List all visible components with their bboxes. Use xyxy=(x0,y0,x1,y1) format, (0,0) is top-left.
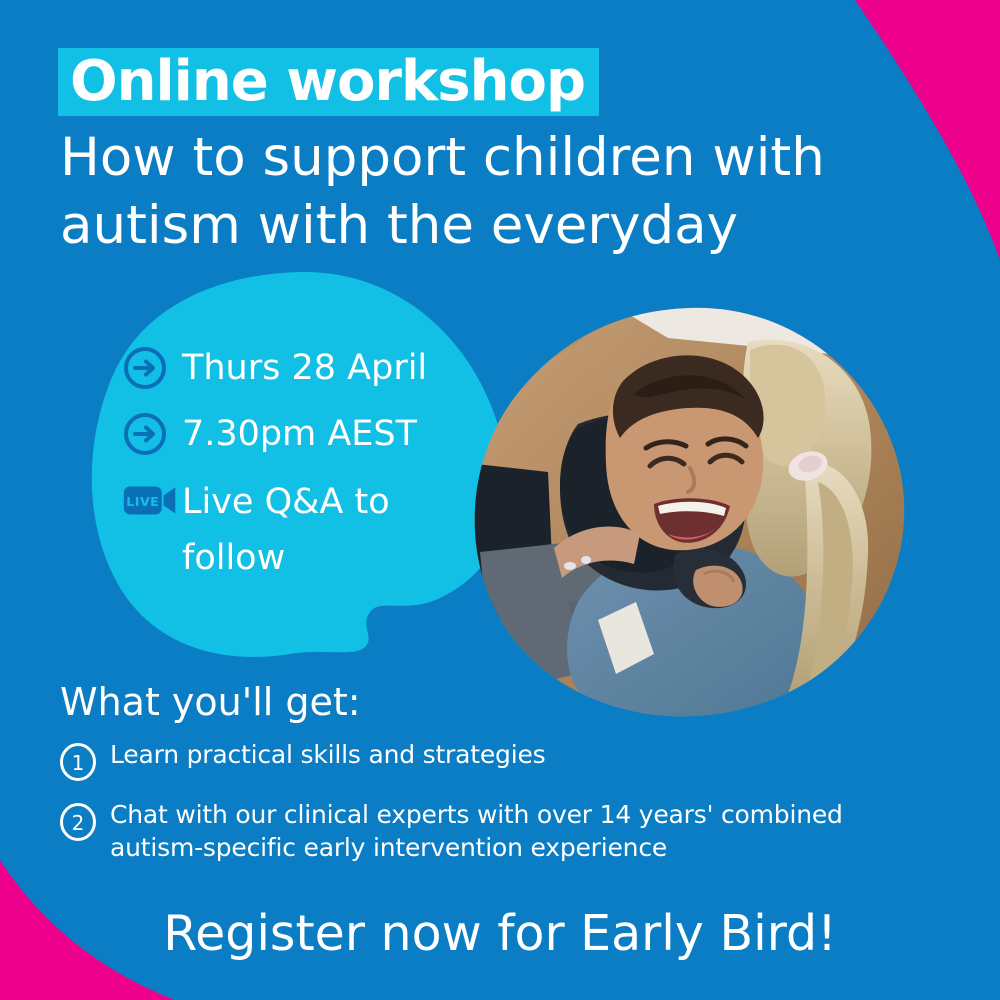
svg-text:2: 2 xyxy=(72,811,85,835)
detail-row-live-qa: LIVE Live Q&A to follow xyxy=(122,474,482,586)
number-circle-1-icon: 1 xyxy=(58,738,110,782)
headline-line-2: autism with the everyday xyxy=(60,192,940,260)
benefit-text-2: Chat with our clinical experts with over… xyxy=(110,798,900,864)
benefit-item-2: 2 Chat with our clinical experts with ov… xyxy=(58,798,938,864)
hero-photo xyxy=(458,302,910,722)
live-video-camera-icon: LIVE xyxy=(122,474,178,526)
arrow-circle-right-icon xyxy=(122,408,178,460)
benefits-section-title: What you'll get: xyxy=(60,680,361,724)
detail-live-qa-text: Live Q&A to follow xyxy=(178,474,482,586)
benefit-text-1: Learn practical skills and strategies xyxy=(110,738,545,771)
detail-row-time: 7.30pm AEST xyxy=(122,408,482,460)
detail-time-text: 7.30pm AEST xyxy=(178,408,417,459)
svg-text:1: 1 xyxy=(72,751,85,775)
benefits-list: 1 Learn practical skills and strategies … xyxy=(58,738,938,880)
detail-row-date: Thurs 28 April xyxy=(122,342,482,394)
detail-date-text: Thurs 28 April xyxy=(178,342,427,393)
svg-text:LIVE: LIVE xyxy=(126,494,159,509)
event-details-list: Thurs 28 April 7.30pm AEST LIVE Live Q&A… xyxy=(122,342,482,600)
number-circle-2-icon: 2 xyxy=(58,798,110,842)
benefit-item-1: 1 Learn practical skills and strategies xyxy=(58,738,938,782)
cta-text[interactable]: Register now for Early Bird! xyxy=(0,905,1000,963)
arrow-circle-right-icon xyxy=(122,342,178,394)
page-title: How to support children with autism with… xyxy=(60,124,940,260)
eyebrow-highlight-bar: Online workshop xyxy=(58,48,599,116)
workshop-promo-poster: Online workshop How to support children … xyxy=(0,0,1000,1000)
headline-line-1: How to support children with xyxy=(60,124,940,192)
eyebrow-label: Online workshop xyxy=(70,54,585,110)
